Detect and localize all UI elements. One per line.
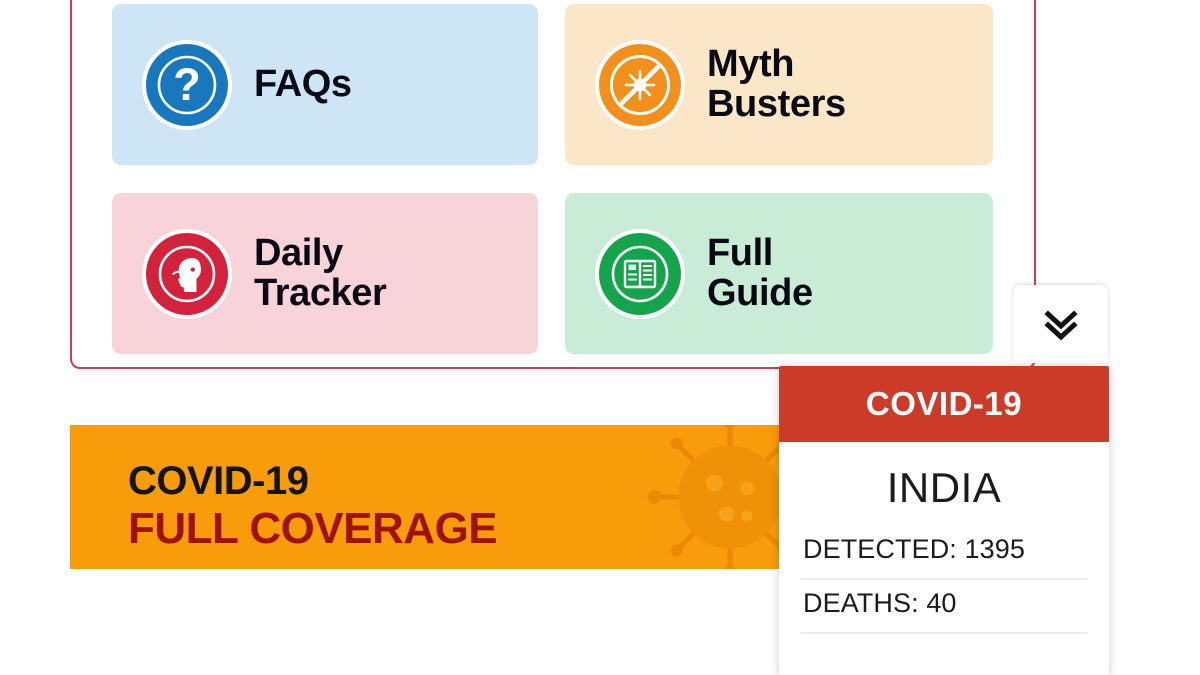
quick-link-full-guide[interactable]: Full Guide (565, 193, 993, 354)
quick-link-label: FAQs (254, 65, 352, 104)
banner-text: COVID-19 FULL COVERAGE (128, 459, 497, 553)
quick-link-daily-tracker[interactable]: Daily Tracker (112, 193, 538, 354)
double-chevron-down-icon (1038, 304, 1084, 344)
quick-link-label: Myth Busters (707, 45, 846, 123)
quick-links-grid: ? FAQs (112, 4, 996, 354)
covid-region-name: INDIA (801, 442, 1087, 526)
covid-full-coverage-banner[interactable]: COVID-19 FULL COVERAGE (70, 425, 780, 569)
page-root: ? FAQs (0, 0, 1200, 675)
covid-widget-title: COVID-19 (866, 385, 1022, 423)
virus-illustration (644, 425, 780, 569)
covid-stat-deaths: DEATHS: 40 (801, 580, 1087, 634)
covid-stat-detected: DETECTED: 1395 (801, 526, 1087, 580)
quick-links-panel: ? FAQs (70, 0, 1036, 369)
svg-text:?: ? (173, 59, 201, 110)
covid-widget-collapse-button[interactable] (1013, 285, 1108, 363)
quick-link-label: Daily Tracker (254, 234, 386, 312)
covid-widget-header: COVID-19 (779, 366, 1109, 442)
quick-link-myth-busters[interactable]: Myth Busters (565, 4, 993, 165)
open-book-icon (599, 233, 681, 315)
question-mark-icon: ? (146, 44, 228, 126)
virus-no-entry-icon (599, 44, 681, 126)
banner-line-2: FULL COVERAGE (128, 504, 497, 553)
quick-link-label: Full Guide (707, 234, 813, 312)
banner-line-1: COVID-19 (128, 459, 497, 504)
covid-widget-body: INDIA DETECTED: 1395 DEATHS: 40 (779, 442, 1109, 634)
covid-19-stats-widget[interactable]: COVID-19 INDIA DETECTED: 1395 DEATHS: 40 (779, 366, 1109, 675)
head-profile-icon (146, 233, 228, 315)
quick-link-faqs[interactable]: ? FAQs (112, 4, 538, 165)
